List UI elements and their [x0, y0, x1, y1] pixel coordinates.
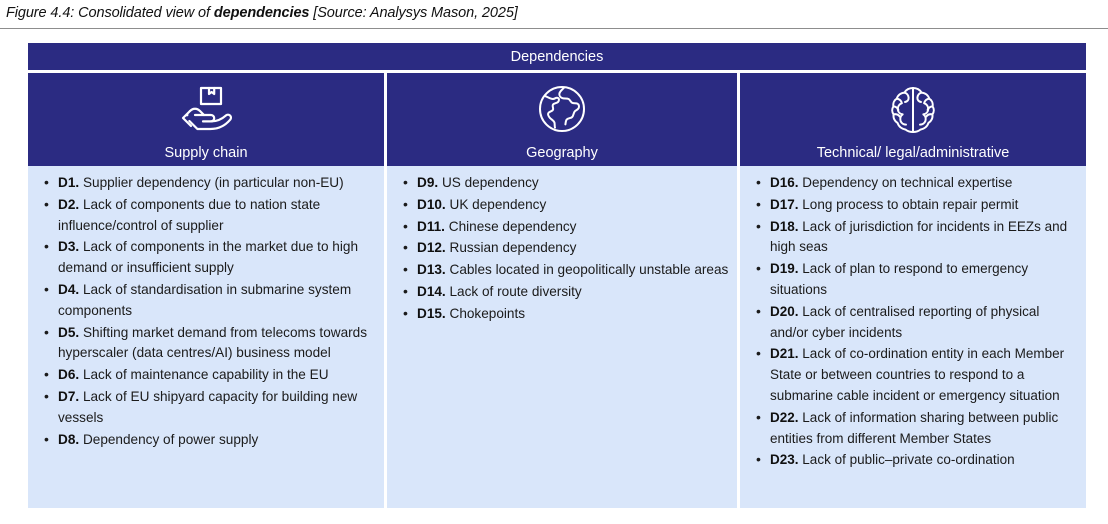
dependency-text: Chinese dependency	[449, 219, 577, 234]
dependency-code: D7.	[58, 389, 79, 404]
globe-icon	[537, 82, 587, 136]
caption-suffix: [Source: Analysys Mason, 2025]	[309, 5, 517, 21]
caption-divider	[0, 28, 1108, 29]
list-item: D18. Lack of jurisdiction for incidents …	[748, 217, 1078, 259]
caption-emphasis: dependencies	[214, 5, 310, 21]
list-item: D2. Lack of components due to nation sta…	[36, 195, 376, 237]
dependency-text: Lack of co-ordination entity in each Mem…	[770, 346, 1064, 403]
dependency-list-technical-legal-administrative: D16. Dependency on technical expertise D…	[748, 173, 1078, 471]
list-item: D7. Lack of EU shipyard capacity for bui…	[36, 387, 376, 429]
dependency-code: D6.	[58, 367, 79, 382]
dependency-code: D18.	[770, 219, 799, 234]
list-item: D4. Lack of standardisation in submarine…	[36, 280, 376, 322]
list-item: D20. Lack of centralised reporting of ph…	[748, 302, 1078, 344]
dependency-code: D21.	[770, 346, 799, 361]
column-body-geography: D9. US dependency D10. UK dependency D11…	[387, 166, 737, 508]
list-item: D8. Dependency of power supply	[36, 430, 376, 451]
list-item: D16. Dependency on technical expertise	[748, 173, 1078, 194]
dependency-code: D2.	[58, 197, 79, 212]
dependency-code: D15.	[417, 306, 446, 321]
dependency-text: Chokepoints	[450, 306, 526, 321]
dependency-text: Dependency on technical expertise	[802, 175, 1012, 190]
column-header-supply-chain: Supply chain	[28, 73, 384, 166]
dependency-code: D23.	[770, 452, 799, 467]
column-header-technical-legal-administrative: Technical/ legal/administrative	[740, 73, 1086, 166]
figure-title-bar: Dependencies	[28, 43, 1086, 70]
column-headers: Supply chain Geography	[28, 73, 1086, 166]
dependency-text: UK dependency	[450, 197, 547, 212]
figure-caption: Figure 4.4: Consolidated view of depende…	[6, 5, 518, 21]
list-item: D3. Lack of components in the market due…	[36, 237, 376, 279]
list-item: D17. Long process to obtain repair permi…	[748, 195, 1078, 216]
dependency-text: Russian dependency	[450, 240, 577, 255]
dependency-code: D20.	[770, 304, 799, 319]
dependency-text: Lack of jurisdiction for incidents in EE…	[770, 219, 1067, 255]
column-body-supply-chain: D1. Supplier dependency (in particular n…	[28, 166, 384, 508]
dependency-code: D8.	[58, 432, 79, 447]
dependency-text: Lack of components in the market due to …	[58, 239, 358, 275]
dependency-text: Lack of route diversity	[450, 284, 582, 299]
list-item: D1. Supplier dependency (in particular n…	[36, 173, 376, 194]
dependency-text: Lack of EU shipyard capacity for buildin…	[58, 389, 357, 425]
dependency-text: Lack of information sharing between publ…	[770, 410, 1058, 446]
dependency-text: Lack of centralised reporting of physica…	[770, 304, 1039, 340]
list-item: D14. Lack of route diversity	[395, 282, 729, 303]
dependency-code: D13.	[417, 262, 446, 277]
column-header-label-geography: Geography	[387, 145, 737, 161]
brain-icon	[888, 82, 938, 136]
list-item: D23. Lack of public–private co-ordinatio…	[748, 450, 1078, 471]
list-item: D19. Lack of plan to respond to emergenc…	[748, 259, 1078, 301]
dependency-text: Lack of standardisation in submarine sys…	[58, 282, 351, 318]
dependency-code: D5.	[58, 325, 79, 340]
dependency-text: Supplier dependency (in particular non-E…	[83, 175, 344, 190]
figure-title: Dependencies	[511, 49, 604, 65]
column-body-technical-legal-administrative: D16. Dependency on technical expertise D…	[740, 166, 1086, 508]
list-item: D12. Russian dependency	[395, 238, 729, 259]
column-header-geography: Geography	[387, 73, 737, 166]
dependency-text: Long process to obtain repair permit	[802, 197, 1018, 212]
dependency-list-geography: D9. US dependency D10. UK dependency D11…	[395, 173, 729, 325]
dependency-code: D3.	[58, 239, 79, 254]
dependencies-figure: Dependencies Supply chain	[28, 43, 1086, 509]
dependency-text: Lack of plan to respond to emergency sit…	[770, 261, 1028, 297]
list-item: D5. Shifting market demand from telecoms…	[36, 323, 376, 365]
dependency-text: Shifting market demand from telecoms tow…	[58, 325, 367, 361]
list-item: D13. Cables located in geopolitically un…	[395, 260, 729, 281]
dependency-list-supply-chain: D1. Supplier dependency (in particular n…	[36, 173, 376, 450]
dependency-code: D9.	[417, 175, 438, 190]
list-item: D22. Lack of information sharing between…	[748, 408, 1078, 450]
dependency-code: D16.	[770, 175, 799, 190]
list-item: D21. Lack of co-ordination entity in eac…	[748, 344, 1078, 406]
dependency-code: D22.	[770, 410, 799, 425]
column-header-label-technical-legal-administrative: Technical/ legal/administrative	[740, 145, 1086, 161]
dependency-code: D17.	[770, 197, 799, 212]
dependency-text: Cables located in geopolitically unstabl…	[450, 262, 729, 277]
column-bodies: D1. Supplier dependency (in particular n…	[28, 166, 1086, 508]
dependency-code: D19.	[770, 261, 799, 276]
dependency-text: Lack of components due to nation state i…	[58, 197, 320, 233]
dependency-text: Dependency of power supply	[83, 432, 258, 447]
caption-prefix: Figure 4.4: Consolidated view of	[6, 5, 214, 21]
hand-holding-box-icon	[178, 82, 234, 136]
dependency-code: D10.	[417, 197, 446, 212]
dependency-code: D12.	[417, 240, 446, 255]
list-item: D15. Chokepoints	[395, 304, 729, 325]
dependency-text: Lack of public–private co-ordination	[802, 452, 1014, 467]
dependency-code: D4.	[58, 282, 79, 297]
figure-caption-area: Figure 4.4: Consolidated view of depende…	[0, 0, 1108, 30]
dependency-code: D1.	[58, 175, 79, 190]
list-item: D10. UK dependency	[395, 195, 729, 216]
column-header-label-supply-chain: Supply chain	[28, 145, 384, 161]
list-item: D6. Lack of maintenance capability in th…	[36, 365, 376, 386]
dependency-code: D14.	[417, 284, 446, 299]
dependency-text: Lack of maintenance capability in the EU	[83, 367, 329, 382]
list-item: D9. US dependency	[395, 173, 729, 194]
dependency-code: D11.	[417, 219, 445, 234]
list-item: D11. Chinese dependency	[395, 217, 729, 238]
dependency-text: US dependency	[442, 175, 539, 190]
